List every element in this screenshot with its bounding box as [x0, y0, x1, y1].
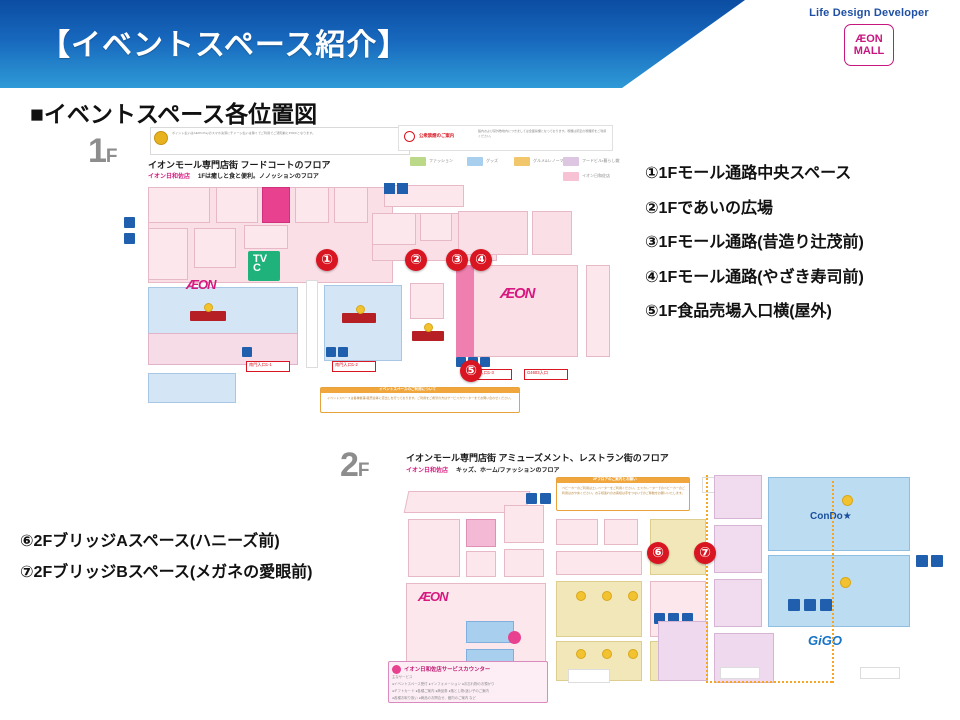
event-space-list-1f: ①1Fモール通路中央スペース ②1Fであいの広場 ③1Fモール通路(昔造り辻茂前…	[645, 165, 955, 338]
store-label-gigo: GiGO	[808, 633, 842, 648]
logo-line-2: MALL	[854, 45, 885, 57]
aeon-store-zone	[456, 265, 578, 357]
zone-block	[556, 581, 642, 637]
facility-icon-restroom	[820, 599, 832, 611]
floor1-subline-rest: 1Fは癒しと食と便利。ノノッションのフロア	[198, 171, 319, 180]
entrance-label-text: G4603入口	[527, 371, 548, 375]
list-item: ⑦2FブリッジBスペース(メガネの愛眼前)	[20, 564, 420, 582]
facility-icon	[602, 649, 612, 659]
zone-block	[604, 519, 638, 545]
brand-block: Life Design Developer ÆON MALL	[794, 6, 944, 66]
caution-title: 公衆禁煙のご案内	[419, 134, 454, 139]
facility-icon-restroom	[480, 357, 490, 367]
page-header: 【イベントスペース紹介】 Life Design Developer ÆON M…	[0, 0, 960, 88]
floor2-subline-brand: イオン日和佐店	[406, 465, 448, 474]
zone-block	[586, 265, 610, 357]
zone-block	[714, 579, 762, 627]
legend-swatch-2	[514, 157, 530, 166]
event-space-list-2f: ⑥2FブリッジAスペース(ハニーズ前) ⑦2FブリッジBスペース(メガネの愛眼前…	[20, 533, 420, 594]
store-tag	[412, 331, 444, 341]
facility-icon-restroom	[326, 347, 336, 357]
floor-badge-1f-suffix: F	[106, 146, 118, 167]
legend-swatch-3	[563, 157, 579, 166]
service-counter-line-1: ●イベントスペース受付 ●インフォメーション ●お忘れ物のお預かり	[392, 683, 494, 687]
facility-icon	[602, 591, 612, 601]
zone-block	[466, 621, 514, 643]
zone-block	[262, 187, 290, 223]
point-notice-text: ポイント払いはAEON Payのスマホ決済にチャージ払いは除くでご利用でご通知前…	[172, 131, 404, 136]
map-note-box	[860, 667, 900, 679]
floor2-notice-box: 2Fフロアのご案内とお願い ベビーカーのご利用はエレベーターをご利用ください。エ…	[556, 477, 690, 511]
event-space-marker-7[interactable]: ⑦	[694, 542, 716, 564]
event-space-marker-2[interactable]: ②	[405, 249, 427, 271]
facility-icon-restroom	[540, 493, 551, 504]
facility-icon	[576, 649, 586, 659]
floor2-headline: イオンモール専門店街 アミューズメント、レストラン街のフロア	[406, 451, 669, 464]
zone-block	[244, 225, 288, 249]
brand-tagline: Life Design Developer	[794, 6, 944, 20]
aeon-logo-mark: ÆON	[186, 277, 216, 292]
legend-label-4: イオン日和佐店	[582, 174, 610, 178]
service-counter-line-2: ●ギフトカード ●各種ご案内 ●商品券 ●落とし物・迷い子のご案内	[392, 690, 489, 694]
icon-blue-group	[384, 183, 395, 194]
legend-swatch-1	[467, 157, 483, 166]
floor-badge-2f-number: 2	[340, 446, 358, 484]
zone-block	[532, 211, 572, 255]
aeon-mall-logo: ÆON MALL	[844, 24, 894, 66]
zone-block	[556, 551, 642, 575]
zone-block	[504, 505, 544, 543]
map-note-box	[720, 667, 760, 679]
floor2-subline-rest: キッズ、ホーム/ファッションのフロア	[456, 465, 560, 474]
store-tag	[190, 311, 226, 321]
icon-blue-group	[397, 183, 408, 194]
floor-badge-1f: 1F	[88, 134, 118, 168]
facility-icon	[840, 577, 851, 588]
store-tag	[342, 313, 376, 323]
store-label-condo: ConDo★	[810, 511, 852, 522]
aeon-logo-mark: ÆON	[418, 589, 448, 604]
floor1-subline-brand: イオン日和佐店	[148, 171, 190, 180]
zone-block	[194, 228, 236, 268]
facility-icon-restroom	[931, 555, 943, 567]
legend-label-2: グルメ&レノーマ	[533, 159, 564, 163]
facility-icon	[628, 591, 638, 601]
service-counter-line-3: ●各種お取り扱い ●商品のお問合せ、館内のご案内 など	[392, 697, 476, 701]
legend-label-3: フードビル・暮らし雑貨	[582, 159, 620, 163]
facility-icon	[204, 303, 213, 312]
section-title: ■イベントスペース各位置図	[30, 95, 317, 129]
zone-block	[658, 621, 708, 681]
zone-block	[466, 519, 496, 547]
floor1-headline: イオンモール専門店街 フードコートのフロア	[148, 158, 331, 171]
facility-icon	[356, 305, 365, 314]
zone-block	[556, 519, 598, 545]
zone-block	[714, 525, 762, 573]
entrance-label-text: 南門入口1-1	[249, 363, 272, 367]
facility-icon	[628, 649, 638, 659]
facility-icon-restroom	[804, 599, 816, 611]
facility-icon-restroom	[338, 347, 348, 357]
facility-icon-restroom	[916, 555, 928, 567]
floor2-notice-body: ベビーカーのご利用はエレベーターをご利用ください。エスカレーターでのベビーカーの…	[562, 486, 686, 496]
facility-icon-restroom	[242, 347, 252, 357]
legend-swatch-0	[410, 157, 426, 166]
footer-notice-box: イベントスペースのご利用について イベントスペースは各種催事・販売会等に貸出しを…	[320, 387, 520, 413]
no-smoking-icon	[404, 131, 415, 142]
service-counter-line-0: 主なサービス	[392, 676, 412, 680]
floor-badge-1f-number: 1	[88, 132, 106, 170]
floor2-notice-title: 2Fフロアのご案内とお願い	[593, 478, 637, 482]
event-space-marker-5[interactable]: ⑤	[460, 360, 482, 382]
floor-map-2f[interactable]: イオンモール専門店街 アミューズメント、レストラン街のフロア イオン日和佐店 キ…	[380, 445, 960, 710]
zone-block	[148, 187, 210, 223]
zone-block	[295, 187, 329, 223]
footer-notice-title: イベントスペースのご利用について	[379, 388, 436, 392]
facility-icon	[842, 495, 853, 506]
route-path-dotted	[706, 681, 832, 683]
facility-icon-restroom	[526, 493, 537, 504]
zone-block	[384, 185, 464, 207]
event-space-marker-3[interactable]: ③	[446, 249, 468, 271]
zone-block	[334, 187, 368, 223]
facility-icon	[424, 323, 433, 332]
floor-badge-2f-suffix: F	[358, 460, 370, 481]
event-space-marker-1[interactable]: ①	[316, 249, 338, 271]
list-item: ②1Fであいの広場	[645, 200, 955, 218]
facility-icon-elevator	[124, 233, 135, 244]
aeon-store-strip	[456, 265, 474, 357]
list-item: ③1Fモール通路(昔造り辻茂前)	[645, 234, 955, 252]
facility-icon	[576, 591, 586, 601]
list-item: ⑤1F食品売場入口横(屋外)	[645, 303, 955, 321]
zone-block	[504, 549, 544, 577]
zone-block	[420, 213, 452, 241]
page-title: 【イベントスペース紹介】	[40, 20, 408, 64]
facility-icon-restroom	[788, 599, 800, 611]
zone-block	[148, 228, 188, 280]
footer-notice-body: イベントスペースは各種催事・販売会等に貸出しを行っております。ご利用をご希望の方…	[327, 396, 515, 401]
service-counter-title: イオン日和佐店サービスカウンター	[404, 665, 490, 673]
zone-block	[148, 373, 236, 403]
legend-swatch-4	[563, 172, 579, 181]
route-path-dotted	[706, 475, 708, 683]
list-item: ⑥2FブリッジAスペース(ハニーズ前)	[20, 533, 420, 551]
entrance-label-text: 南門入口1-2	[335, 363, 358, 367]
zone-block	[372, 213, 416, 245]
list-item: ①1Fモール通路中央スペース	[645, 165, 955, 183]
event-space-marker-6[interactable]: ⑥	[647, 542, 669, 564]
point-notice-icon	[154, 131, 168, 145]
zone-block	[466, 551, 496, 577]
route-path-dotted	[832, 481, 834, 683]
legend-label-0: ファッション	[429, 159, 453, 163]
caution-body: 館内および屋外敷地内につきましては全面禁煙となっております。喫煙は所定の喫煙所を…	[478, 129, 608, 138]
facility-icon-elevator	[124, 217, 135, 228]
legend-label-1: グッズ	[486, 159, 498, 163]
question-mark-icon	[508, 631, 521, 644]
aeon-logo-mark: ÆON	[500, 285, 535, 302]
zone-block	[410, 283, 444, 319]
zone-block	[714, 475, 762, 519]
list-item: ④1Fモール通路(やざき寿司前)	[645, 269, 955, 287]
logo-line-1: ÆON	[855, 33, 883, 45]
zone-block	[458, 211, 528, 255]
map-note-box	[568, 669, 610, 683]
floor-badge-2f: 2F	[340, 448, 370, 482]
zone-block	[768, 555, 910, 627]
floor-map-1f[interactable]: ポイント払いはAEON Payのスマホ決済にチャージ払いは除くでご利用でご通知前…	[120, 125, 620, 415]
event-space-marker-4[interactable]: ④	[470, 249, 492, 271]
service-counter-icon	[392, 665, 401, 674]
zone-green-tv-label: TVC	[253, 255, 267, 273]
mall-corridor	[306, 280, 318, 368]
zone-block	[216, 187, 258, 223]
